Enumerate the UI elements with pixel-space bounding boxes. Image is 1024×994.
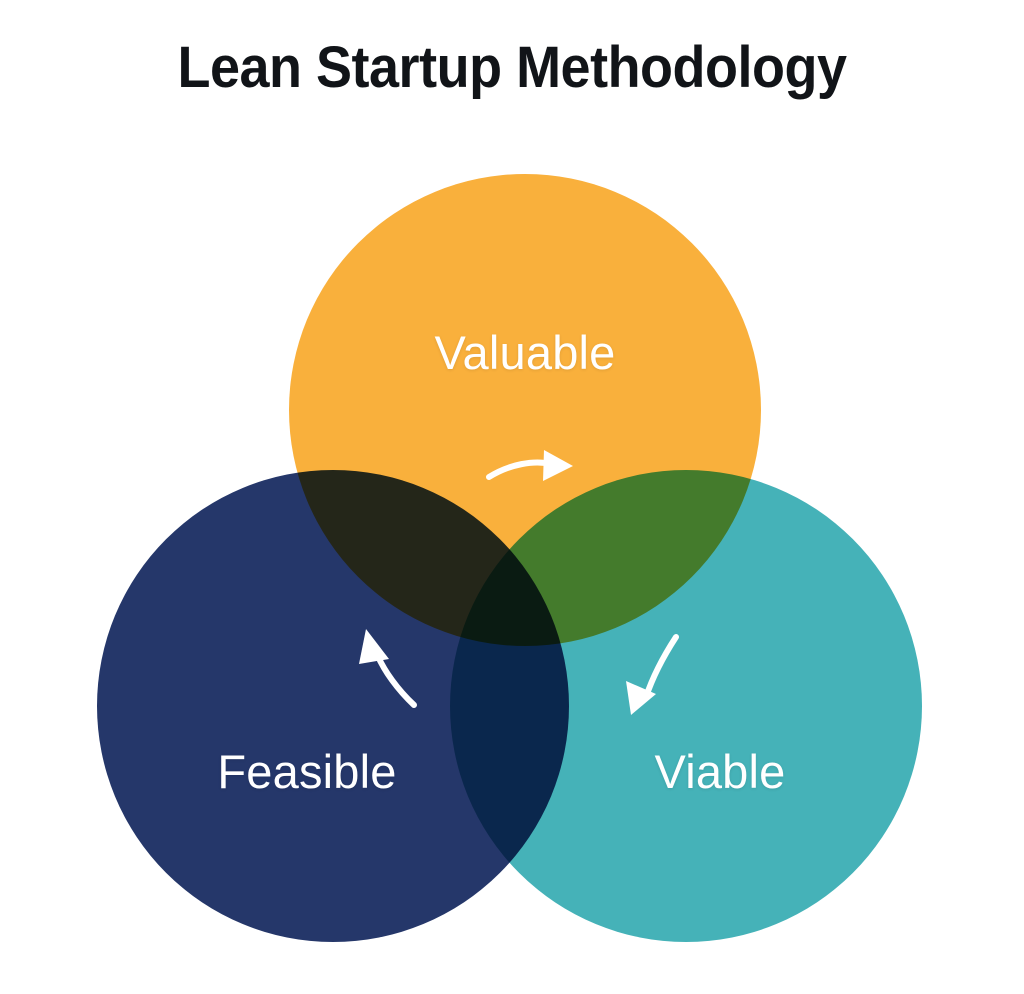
venn-circle-viable[interactable] xyxy=(450,470,922,942)
venn-diagram-figure: Lean Startup Methodology xyxy=(0,0,1024,994)
venn-stage: Valuable Feasible Viable xyxy=(0,0,1024,994)
venn-circles-svg xyxy=(0,0,1024,994)
